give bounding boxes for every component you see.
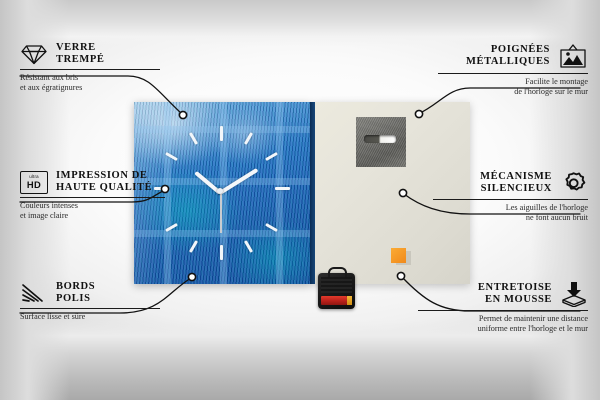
- callout-title-line: SILENCIEUX: [480, 183, 552, 195]
- callout-desc-line: Couleurs intenses: [20, 201, 175, 211]
- callout-desc-line: Surface lisse et sûre: [20, 312, 170, 322]
- callout-desc-line: de l'horloge sur le mur: [428, 87, 588, 97]
- clock-mechanism-box: [318, 273, 355, 309]
- callout-entretoise-en-mousse: ENTRETOISE EN MOUSSE Permet de maintenir…: [408, 281, 588, 333]
- callout-divider: [418, 310, 588, 311]
- callout-title-line: IMPRESSION DE: [56, 170, 152, 182]
- callout-title-line: MÉCANISME: [480, 171, 552, 183]
- callout-divider: [20, 69, 160, 70]
- callout-description: Surface lisse et sûre: [20, 312, 170, 322]
- callout-title: ENTRETOISE EN MOUSSE: [478, 282, 552, 306]
- callout-title: POIGNÉES MÉTALLIQUES: [466, 44, 550, 68]
- callout-mecanisme-silencieux: MÉCANISME SILENCIEUX Les aiguilles de l'…: [423, 170, 588, 222]
- callout-header: VERRE TREMPÉ: [20, 42, 170, 66]
- callout-title: VERRE TREMPÉ: [56, 42, 105, 66]
- diagonal-lines-icon: [20, 281, 48, 305]
- arrow-down-onto-pad-icon: [560, 281, 588, 307]
- battery: [321, 296, 347, 305]
- callout-header: ultra HD IMPRESSION DE HAUTE QUALITÉ: [20, 170, 175, 194]
- callout-desc-line: Permet de maintenir une distance: [408, 314, 588, 324]
- callout-header: MÉCANISME SILENCIEUX: [423, 170, 588, 196]
- callout-description: Facilite le montage de l'horloge sur le …: [428, 77, 588, 96]
- clock-tick: [220, 245, 223, 260]
- callout-header: BORDS POLIS: [20, 281, 170, 305]
- callout-title: MÉCANISME SILENCIEUX: [480, 171, 552, 195]
- callout-bords-polis: BORDS POLIS Surface lisse et sûre: [20, 281, 170, 322]
- callout-title-line: BORDS: [56, 281, 95, 293]
- clock-center-hub: [217, 188, 223, 194]
- callout-title: BORDS POLIS: [56, 281, 95, 305]
- gear-icon: [560, 170, 588, 196]
- face-grid-line: [134, 230, 312, 237]
- callout-title: IMPRESSION DE HAUTE QUALITÉ: [56, 170, 152, 194]
- callout-title-line: POIGNÉES: [466, 44, 550, 56]
- infographic-canvas: VERRE TREMPÉ Résistant aux bris et aux é…: [0, 0, 600, 400]
- callout-desc-line: Les aiguilles de l'horloge: [423, 203, 588, 213]
- foam-spacer: [391, 248, 406, 263]
- callout-description: Les aiguilles de l'horloge ne font aucun…: [423, 203, 588, 222]
- callout-desc-line: ne font aucun bruit: [423, 213, 588, 223]
- hanging-frame-icon: [558, 42, 588, 70]
- hanger-keyhole-slot: [364, 135, 396, 143]
- callout-poignees-metalliques: POIGNÉES MÉTALLIQUES Facilite le montage…: [428, 42, 588, 96]
- battery-positive-cap: [347, 296, 352, 305]
- callout-header: ENTRETOISE EN MOUSSE: [408, 281, 588, 307]
- callout-title-line: ENTRETOISE: [478, 282, 552, 294]
- callout-desc-line: et image claire: [20, 211, 175, 221]
- mechanism-body-detail: [321, 277, 352, 293]
- face-grid-line: [134, 126, 312, 133]
- callout-divider: [433, 199, 588, 200]
- callout-divider: [438, 73, 588, 74]
- clock-second-hand: [220, 191, 222, 233]
- callout-desc-line: Résistant aux bris: [20, 73, 170, 83]
- callout-desc-line: uniforme entre l'horloge et le mur: [408, 324, 588, 334]
- ultra-hd-icon: ultra HD: [20, 171, 48, 194]
- callout-description: Permet de maintenir une distance uniform…: [408, 314, 588, 333]
- callout-title-line: VERRE: [56, 42, 105, 54]
- callout-description: Couleurs intenses et image claire: [20, 201, 175, 220]
- callout-title-line: MÉTALLIQUES: [466, 56, 550, 68]
- callout-title-line: POLIS: [56, 293, 95, 305]
- background-vignette-top: [0, 0, 600, 46]
- callout-impression-haute-qualite: ultra HD IMPRESSION DE HAUTE QUALITÉ Cou…: [20, 170, 175, 220]
- callout-title-line: TREMPÉ: [56, 54, 105, 66]
- callout-desc-line: Facilite le montage: [428, 77, 588, 87]
- callout-desc-line: et aux égratignures: [20, 83, 170, 93]
- callout-header: POIGNÉES MÉTALLIQUES: [428, 42, 588, 70]
- metal-hanger-plate: [356, 117, 406, 167]
- callout-description: Résistant aux bris et aux égratignures: [20, 73, 170, 92]
- clock-tick: [275, 187, 290, 190]
- callout-title-line: HAUTE QUALITÉ: [56, 182, 152, 194]
- diamond-icon: [20, 42, 48, 66]
- callout-divider: [20, 197, 165, 198]
- callout-divider: [20, 308, 160, 309]
- callout-title-line: EN MOUSSE: [478, 294, 552, 306]
- clock-tick: [220, 126, 223, 141]
- ultra-hd-icon-main-text: HD: [27, 180, 41, 190]
- product-image: [134, 102, 470, 284]
- callout-verre-trempe: VERRE TREMPÉ Résistant aux bris et aux é…: [20, 42, 170, 92]
